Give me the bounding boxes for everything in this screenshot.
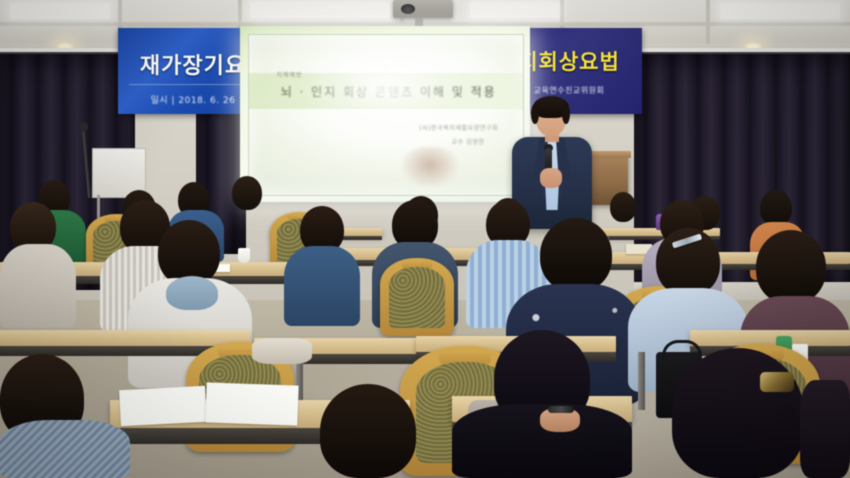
presenter-hands — [540, 168, 562, 188]
attendee-hair-foreground — [800, 380, 850, 478]
attendee-head — [540, 218, 612, 292]
microphone-icon — [80, 122, 88, 132]
presenter-hair-side — [562, 104, 570, 124]
ceiling-projector — [393, 0, 453, 18]
handbag-strap — [662, 340, 702, 361]
attendee-head — [756, 230, 826, 304]
seminar-photo: 재가장기요 일시 | 2018. 6. 26 지회상요법 교육연수진교위원회 치… — [0, 0, 850, 478]
attendee-head — [760, 190, 792, 226]
handout-papers — [205, 382, 298, 425]
banner-right-title: 지회상요법 — [518, 46, 620, 76]
attendee-torso — [0, 244, 76, 328]
brain-illustration-icon — [402, 147, 458, 187]
ceiling-light-panel — [250, 2, 390, 18]
banquet-chair — [380, 258, 454, 336]
banner-left-subtitle: 일시 | 2018. 6. 26 — [151, 93, 236, 106]
presenter-hair-side — [531, 104, 539, 124]
leopard-hair-clip-icon — [760, 372, 794, 392]
attendee-scarf — [166, 276, 218, 310]
ceiling-light-panel — [10, 3, 110, 19]
attendee-head-foreground — [320, 384, 416, 478]
attendee-torso-foreground — [0, 420, 130, 478]
banner-divider — [129, 84, 258, 85]
attendee-torso — [284, 246, 360, 326]
projector-lens — [401, 4, 415, 14]
handout-papers — [119, 386, 207, 426]
attendee-head — [232, 176, 262, 210]
ceiling-light-panel — [470, 2, 560, 18]
attendee-head-foreground — [672, 348, 804, 478]
projection-screen: 치매예방 뇌 · 인지 회상 콘텐츠 이해 및 적용 (사)한국복지재활요양연구… — [248, 34, 524, 196]
attendee-head — [610, 192, 636, 222]
table-leg — [638, 352, 645, 410]
beaded-bracelet — [548, 406, 574, 413]
banner-right-subtitle: 교육연수진교위원회 — [534, 85, 605, 96]
screen-glare — [298, 45, 473, 128]
paper-cup — [238, 248, 250, 263]
slide-presenter-line: 교수 김영한 — [452, 137, 485, 146]
attendee-sleeve — [252, 338, 312, 364]
banner-left-title: 재가장기요 — [140, 48, 246, 80]
chair-cushion — [389, 267, 445, 328]
ceiling-light-panel — [720, 3, 840, 19]
slide-organization: (사)한국복지재활요양연구회 — [419, 123, 498, 132]
projector-mount — [415, 18, 423, 26]
